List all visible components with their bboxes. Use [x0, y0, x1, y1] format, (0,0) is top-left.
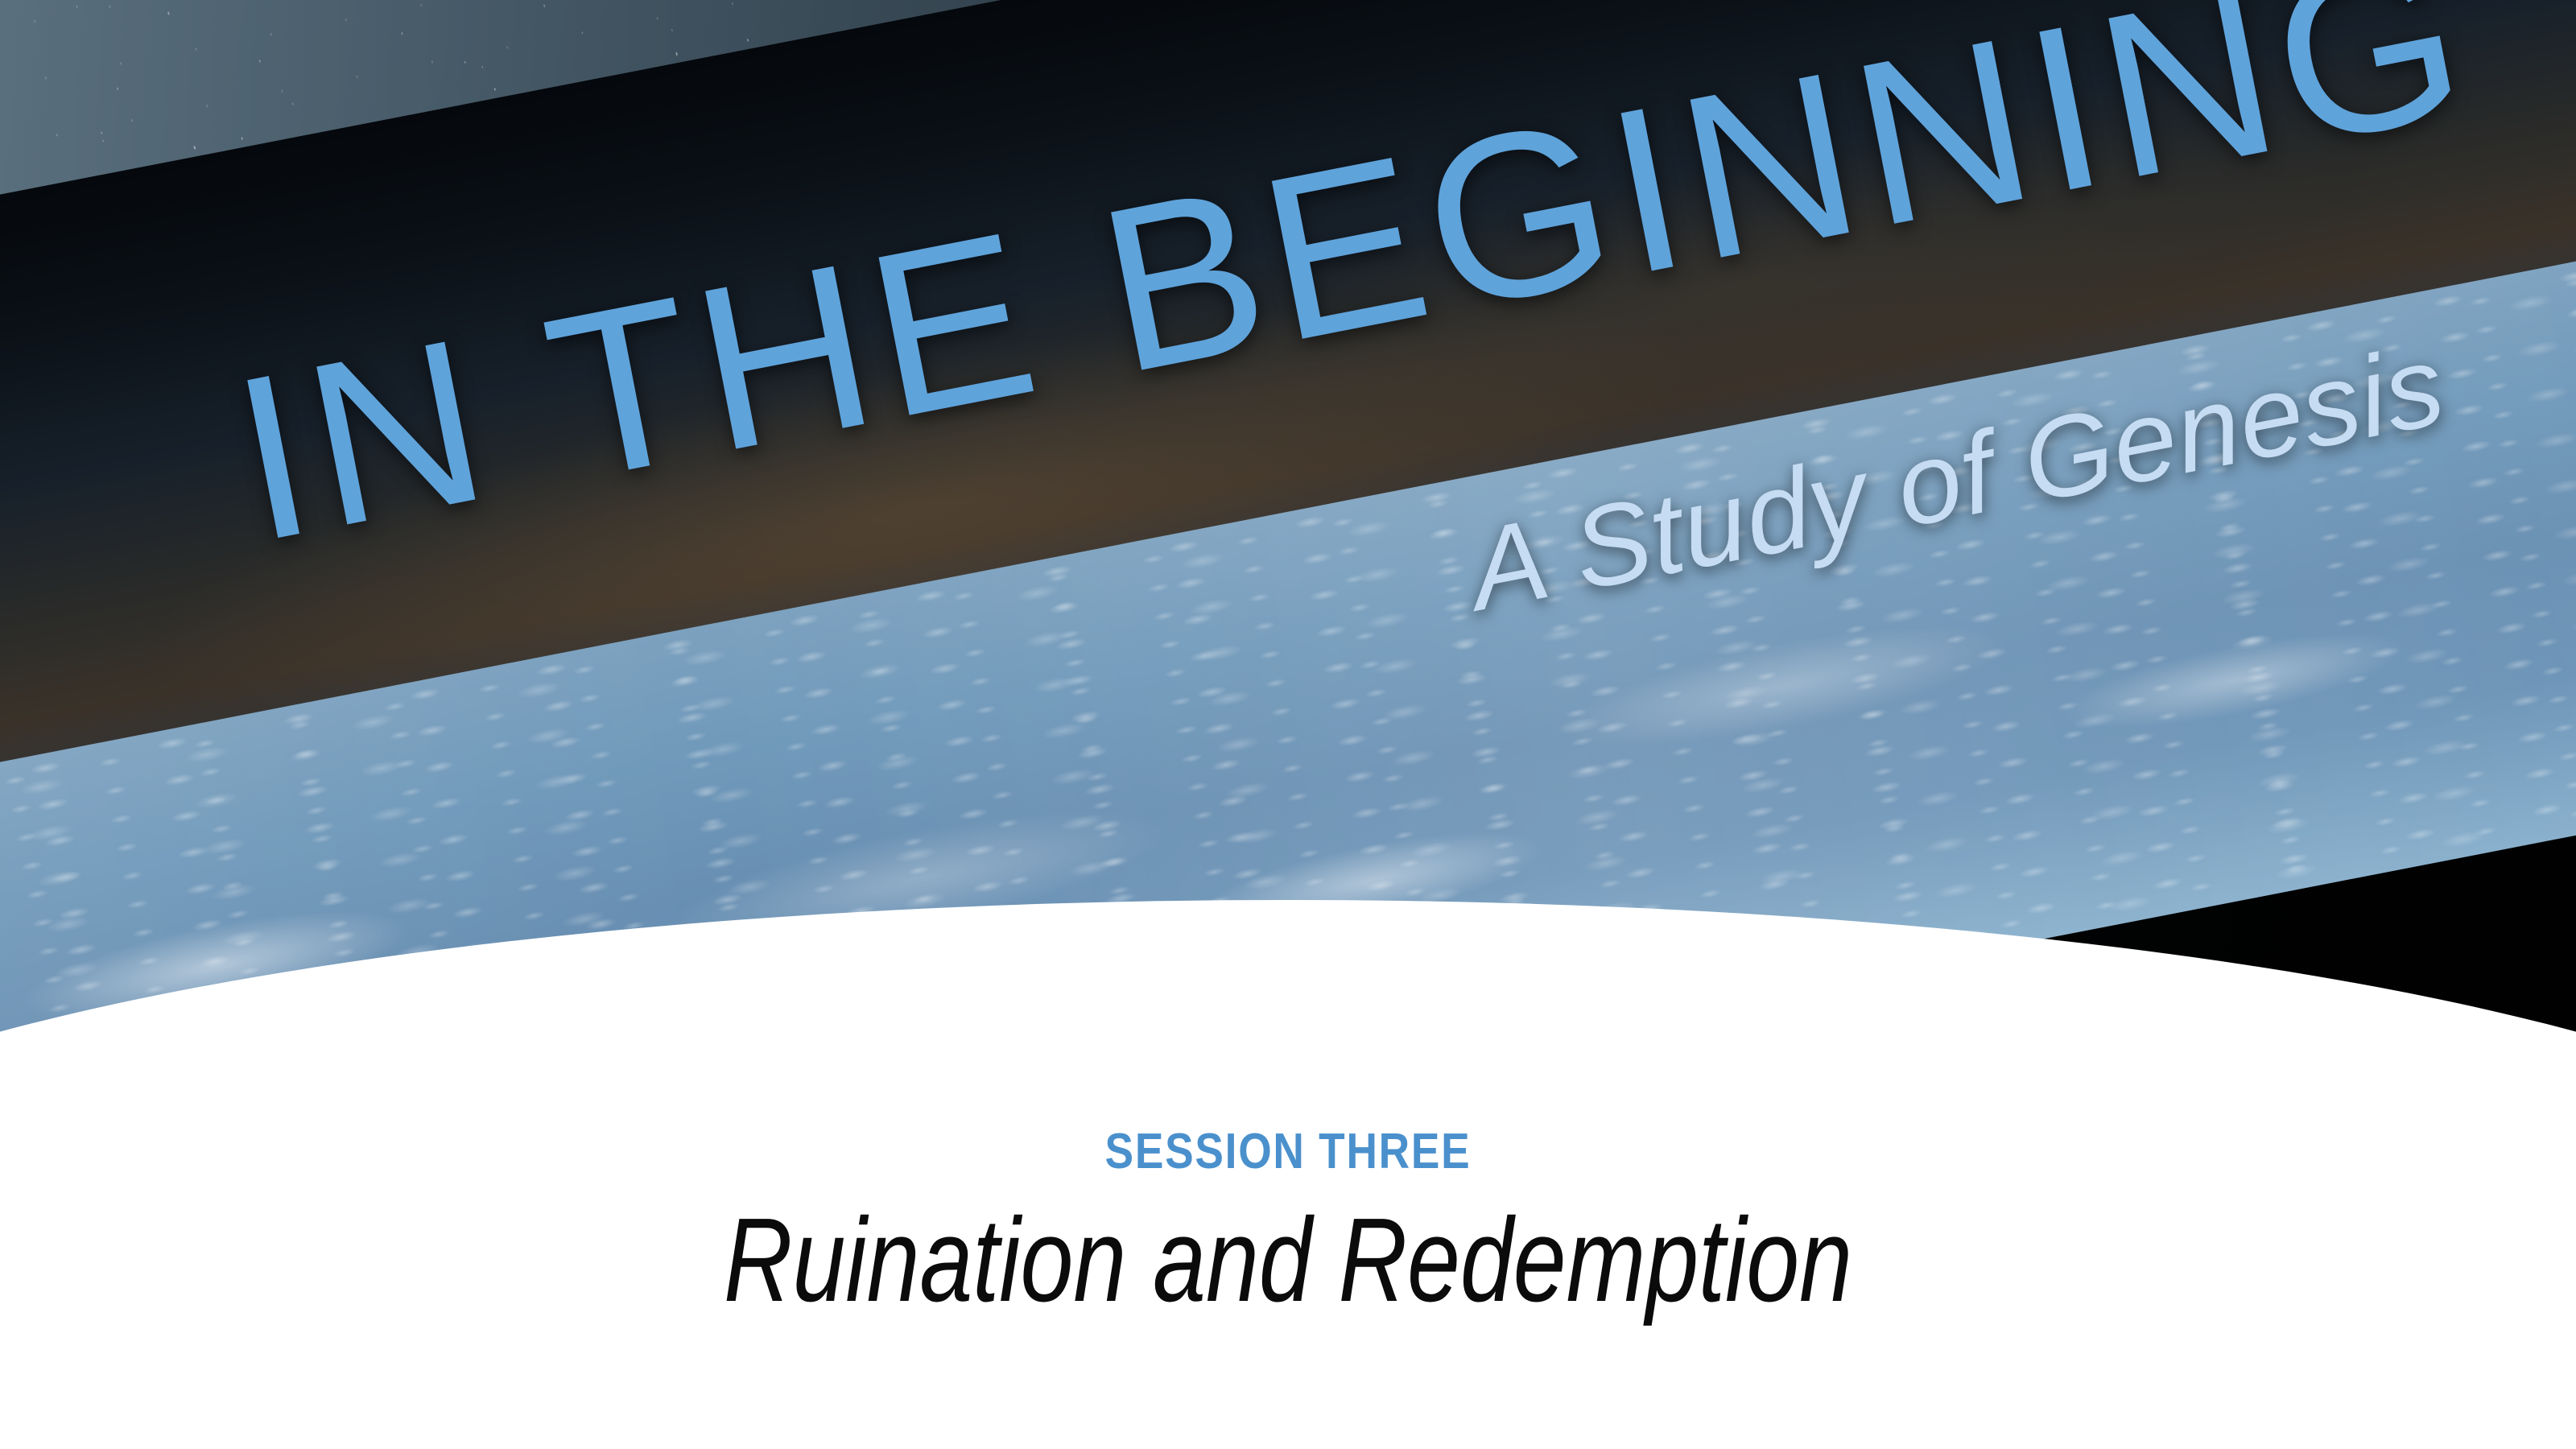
session-label: SESSION THREE [180, 1127, 2396, 1177]
session-title: Ruination and Redemption [258, 1198, 2318, 1323]
lower-text-panel: SESSION THREE Ruination and Redemption [0, 1038, 2576, 1449]
hero-space-image: IN THE BEGINNING A Study of Genesis [0, 0, 2576, 1038]
title-slide: IN THE BEGINNING A Study of Genesis SESS… [0, 0, 2576, 1449]
